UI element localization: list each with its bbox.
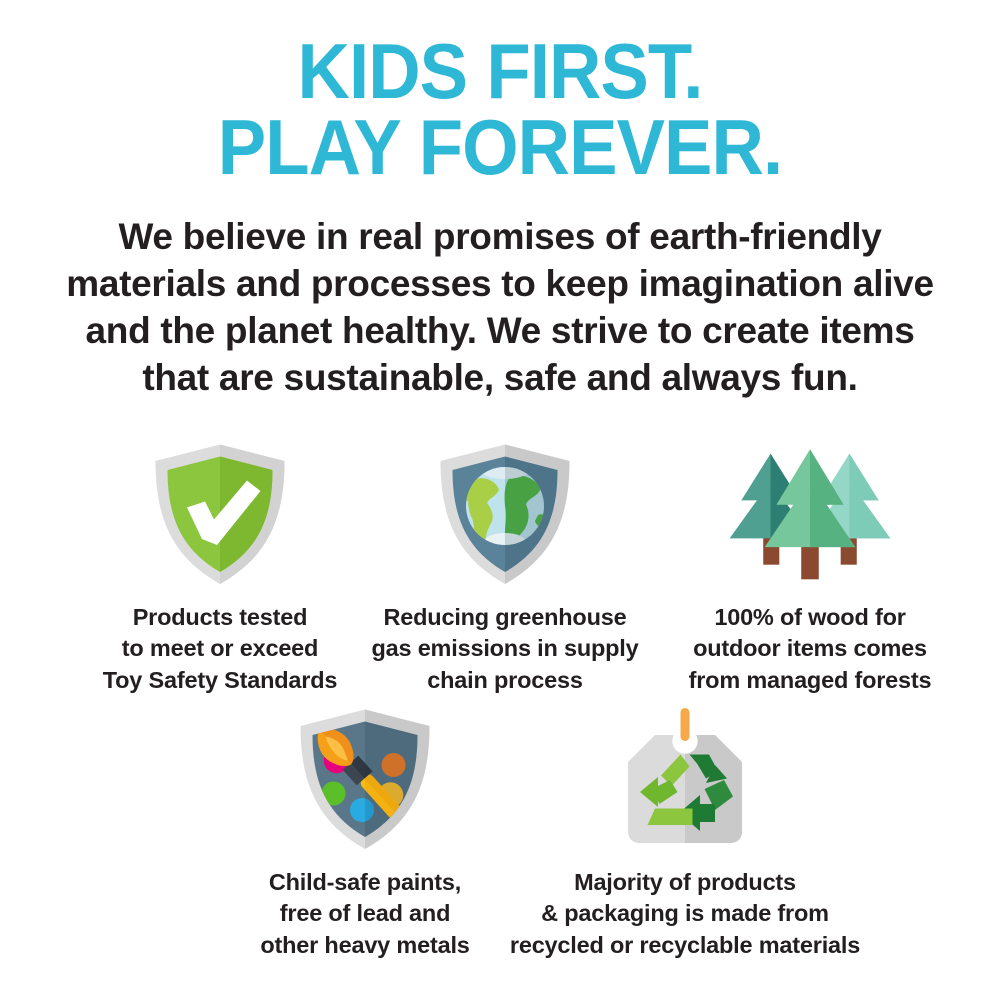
feature-recycled-packaging: Majority of products & packaging is made… — [495, 705, 875, 961]
shield-checkmark-icon — [145, 440, 295, 590]
caption-line-2: gas emissions in supply — [340, 633, 670, 664]
three-trees-icon — [715, 440, 905, 590]
feature-caption: Majority of products & packaging is made… — [495, 867, 875, 961]
caption-line-1: 100% of wood for — [655, 602, 965, 633]
body-line-3: and the planet healthy. We strive to cre… — [50, 308, 950, 355]
recycle-tag-icon — [610, 705, 760, 855]
feature-caption: Child-safe paints, free of lead and othe… — [215, 867, 515, 961]
headline-line-1: KIDS FIRST. — [35, 34, 965, 110]
poster-canvas: KIDS FIRST. PLAY FOREVER. We believe in … — [0, 0, 1000, 1000]
feature-caption: 100% of wood for outdoor items comes fro… — [655, 602, 965, 696]
caption-line-2: free of lead and — [215, 898, 515, 929]
headline-line-2: PLAY FOREVER. — [35, 110, 965, 186]
page-title: KIDS FIRST. PLAY FOREVER. — [35, 34, 965, 185]
shield-paint-palette-icon — [290, 705, 440, 855]
caption-line-3: other heavy metals — [215, 930, 515, 961]
caption-line-1: Child-safe paints, — [215, 867, 515, 898]
feature-child-safe-paints: Child-safe paints, free of lead and othe… — [215, 705, 515, 961]
body-line-1: We believe in real promises of earth-fri… — [50, 214, 950, 261]
feature-managed-forests: 100% of wood for outdoor items comes fro… — [655, 440, 965, 696]
shield-globe-icon — [430, 440, 580, 590]
feature-caption: Reducing greenhouse gas emissions in sup… — [340, 602, 670, 696]
feature-greenhouse-gas: Reducing greenhouse gas emissions in sup… — [340, 440, 670, 696]
caption-line-3: recycled or recyclable materials — [495, 930, 875, 961]
caption-line-3: chain process — [340, 665, 670, 696]
caption-line-3: from managed forests — [655, 665, 965, 696]
caption-line-1: Reducing greenhouse — [340, 602, 670, 633]
body-line-4: that are sustainable, safe and always fu… — [50, 355, 950, 402]
body-paragraph: We believe in real promises of earth-fri… — [50, 214, 950, 402]
body-line-2: materials and processes to keep imaginat… — [50, 261, 950, 308]
caption-line-1: Majority of products — [495, 867, 875, 898]
caption-line-2: & packaging is made from — [495, 898, 875, 929]
caption-line-2: outdoor items comes — [655, 633, 965, 664]
